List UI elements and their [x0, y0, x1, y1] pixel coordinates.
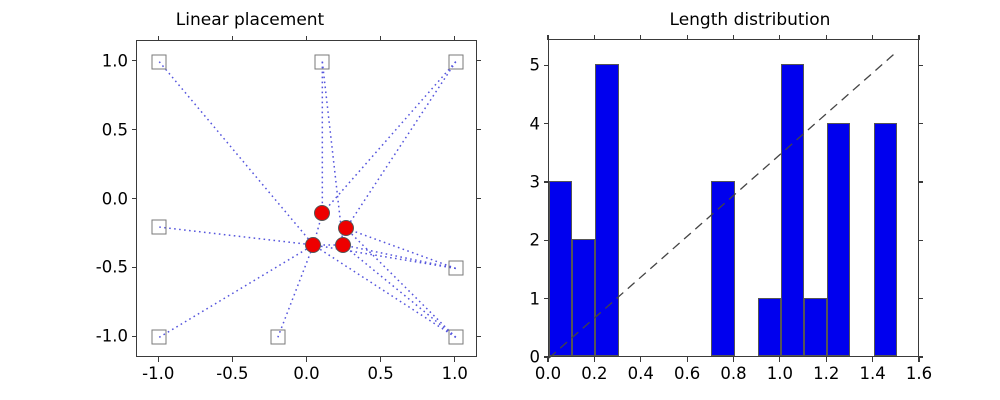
y-tick-mark-right	[918, 298, 923, 299]
y-tick-label: 2	[504, 231, 540, 250]
terminal-square-marker	[448, 330, 463, 345]
y-tick-mark-right	[476, 60, 481, 61]
y-tick-mark-right	[476, 129, 481, 130]
terminal-square-marker	[448, 54, 463, 69]
terminal-square-marker	[152, 220, 167, 235]
y-tick-label: 1.0	[74, 51, 128, 70]
scatter-markers-layer	[137, 41, 476, 356]
x-tick-mark	[380, 357, 381, 362]
y-tick-mark	[132, 60, 137, 61]
x-tick-label: 0.2	[581, 364, 607, 383]
x-tick-mark-top	[547, 35, 548, 40]
y-tick-mark-right	[918, 181, 923, 182]
y-tick-mark	[544, 181, 549, 182]
x-tick-label: -1.0	[142, 364, 174, 383]
x-tick-mark	[158, 357, 159, 362]
left-chart-title: Linear placement	[0, 10, 500, 30]
x-tick-mark-top	[687, 35, 688, 40]
x-tick-mark-top	[640, 35, 641, 40]
x-tick-label: 0.0	[535, 364, 561, 383]
x-tick-label: 1.0	[442, 364, 468, 383]
x-tick-mark	[594, 357, 595, 362]
placed-cell-circle-marker	[305, 237, 321, 253]
y-tick-mark	[544, 123, 549, 124]
placed-cell-circle-marker	[314, 205, 330, 221]
x-tick-label: 0.5	[368, 364, 394, 383]
y-tick-label: 5	[504, 56, 540, 75]
x-tick-mark	[640, 357, 641, 362]
x-tick-mark-top	[779, 35, 780, 40]
right-chart-title: Length distribution	[500, 10, 1000, 30]
figure-canvas: Linear placement -1.0-0.50.00.51.0-1.0-0…	[0, 0, 1000, 400]
x-tick-label: -0.5	[216, 364, 248, 383]
y-tick-mark-right	[476, 267, 481, 268]
y-tick-label: 4	[504, 114, 540, 133]
placed-cell-circle-marker	[335, 237, 351, 253]
x-tick-mark-top	[826, 35, 827, 40]
x-tick-mark	[454, 357, 455, 362]
x-tick-mark	[687, 357, 688, 362]
x-tick-label: 1.6	[906, 364, 932, 383]
trend-dashed-line	[549, 52, 897, 358]
y-tick-label: 0.5	[74, 120, 128, 139]
x-tick-mark	[733, 357, 734, 362]
x-tick-mark-top	[306, 36, 307, 41]
y-tick-label: 3	[504, 172, 540, 191]
terminal-square-marker	[152, 330, 167, 345]
y-tick-mark-right	[476, 336, 481, 337]
terminal-square-marker	[315, 54, 330, 69]
x-tick-mark	[779, 357, 780, 362]
x-tick-label: 0.6	[674, 364, 700, 383]
terminal-square-marker	[448, 261, 463, 276]
x-tick-mark-top	[454, 36, 455, 41]
terminal-square-marker	[270, 330, 285, 345]
y-tick-label: 0	[504, 348, 540, 367]
x-tick-label: 1.4	[860, 364, 886, 383]
x-tick-mark-top	[232, 36, 233, 41]
y-tick-mark-right	[918, 240, 923, 241]
x-tick-label: 0.0	[293, 364, 319, 383]
length-distribution-panel: Length distribution 0.00.20.40.60.81.01.…	[500, 0, 1000, 400]
y-tick-mark-right	[476, 198, 481, 199]
overlay-trend-line	[549, 40, 920, 358]
x-tick-mark	[232, 357, 233, 362]
x-tick-mark-top	[733, 35, 734, 40]
x-tick-mark	[872, 357, 873, 362]
right-plot-axes	[548, 39, 919, 357]
y-tick-mark	[544, 356, 549, 357]
y-tick-mark	[132, 336, 137, 337]
x-tick-mark	[547, 357, 548, 362]
y-tick-label: -0.5	[74, 258, 128, 277]
x-tick-label: 1.0	[767, 364, 793, 383]
x-tick-mark-top	[918, 35, 919, 40]
placed-cell-circle-marker	[338, 220, 354, 236]
x-tick-label: 1.2	[813, 364, 839, 383]
linear-placement-panel: Linear placement -1.0-0.50.00.51.0-1.0-0…	[0, 0, 500, 400]
x-tick-mark-top	[594, 35, 595, 40]
x-tick-label: 0.4	[628, 364, 654, 383]
y-tick-mark	[132, 129, 137, 130]
y-tick-mark	[544, 240, 549, 241]
y-tick-mark	[544, 65, 549, 66]
y-tick-mark	[132, 198, 137, 199]
x-tick-mark	[306, 357, 307, 362]
x-tick-mark	[826, 357, 827, 362]
y-tick-mark	[132, 267, 137, 268]
x-tick-mark	[918, 357, 919, 362]
terminal-square-marker	[152, 54, 167, 69]
x-tick-mark-top	[158, 36, 159, 41]
x-tick-mark-top	[872, 35, 873, 40]
left-plot-axes	[136, 40, 477, 357]
y-tick-mark-right	[918, 356, 923, 357]
y-tick-mark-right	[918, 65, 923, 66]
y-tick-mark-right	[918, 123, 923, 124]
y-tick-label: -1.0	[74, 327, 128, 346]
x-tick-label: 0.8	[720, 364, 746, 383]
y-tick-mark	[544, 298, 549, 299]
y-tick-label: 0.0	[74, 189, 128, 208]
y-tick-label: 1	[504, 289, 540, 308]
x-tick-mark-top	[380, 36, 381, 41]
